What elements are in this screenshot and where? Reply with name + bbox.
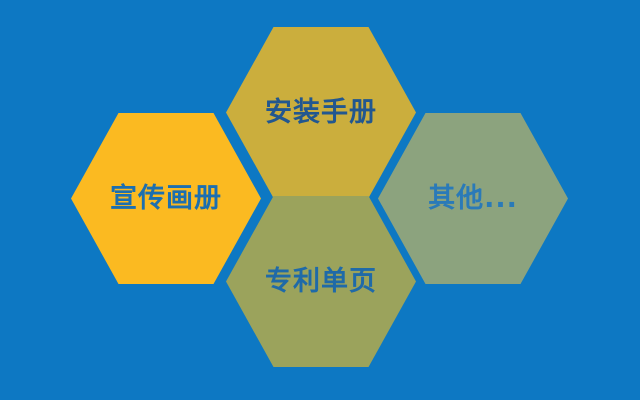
slide-canvas: 宣传画册 安装手册 专利单页 其他... <box>0 0 640 400</box>
hexagon-tile-patent[interactable]: 专利单页 <box>226 196 416 367</box>
hexagon-tile-other[interactable]: 其他... <box>378 113 568 284</box>
hexagon-tile-manual[interactable]: 安装手册 <box>226 27 416 198</box>
hexagon-label-other: 其他... <box>428 185 518 212</box>
hexagon-label-promo: 宣传画册 <box>110 185 222 212</box>
hexagon-label-patent: 专利单页 <box>265 268 377 295</box>
hexagon-label-manual: 安装手册 <box>265 99 377 126</box>
hexagon-tile-promo[interactable]: 宣传画册 <box>71 113 261 284</box>
